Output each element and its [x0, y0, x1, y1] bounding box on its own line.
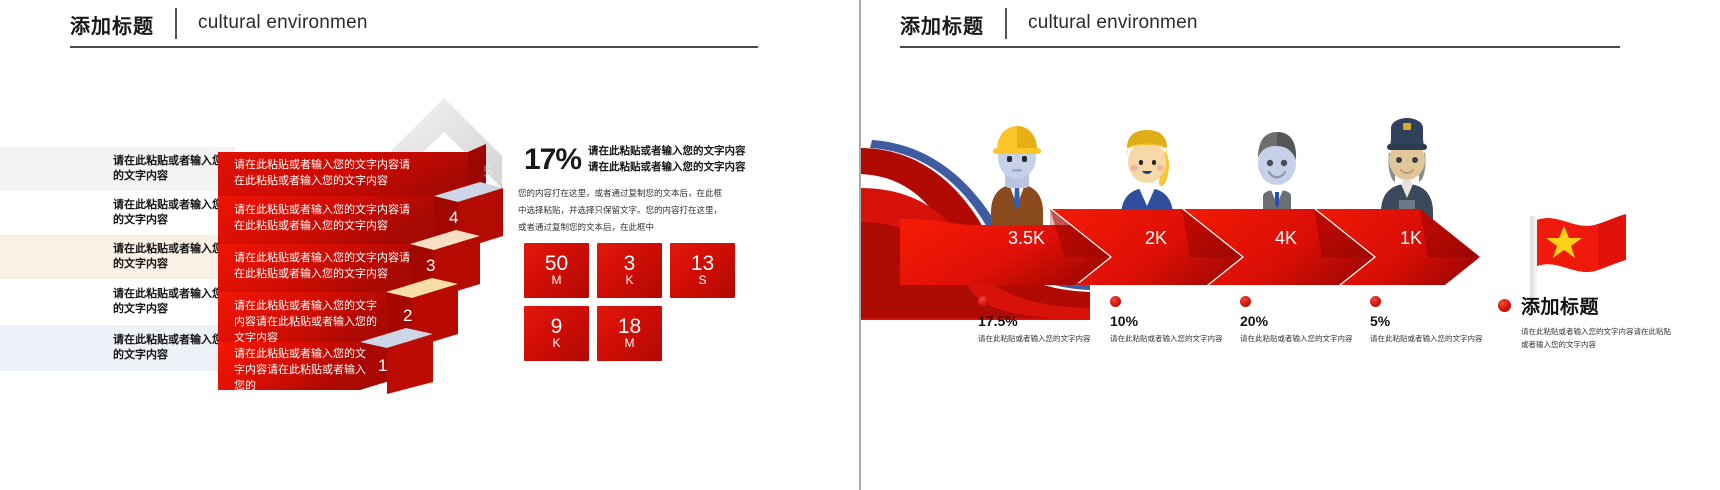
kpi-value: 18: [618, 317, 641, 337]
end-goal-block[interactable]: 添加标题 请在此粘贴或者输入您的文字内容请在此粘贴或者输入您的文字内容: [1498, 292, 1678, 352]
list-item-label: 请在此粘贴或者输入您的文字内容: [113, 154, 223, 184]
stat-body-text: 您的内容打在这里，或者通过复制您的文本后，在此框中选择粘贴，并选择只保留文字。您…: [518, 186, 728, 237]
metric-percent: 20%: [1240, 313, 1360, 329]
metric-item[interactable]: 20% 请在此粘贴或者输入您的文字内容: [1240, 296, 1360, 345]
staircase-diagram: 请在此粘贴或者输入您的文字内容请在此粘贴或者输入您的文字内容 5 请在此粘: [218, 96, 518, 376]
list-item-label: 请在此粘贴或者输入您的文字内容: [113, 198, 223, 228]
page-title-en: cultural environmen: [198, 12, 368, 34]
kpi-value: 9: [551, 317, 563, 337]
stat-description: 请在此粘贴或者输入您的文字内容 请在此粘贴或者输入您的文字内容: [588, 144, 768, 176]
metric-percent: 10%: [1110, 313, 1230, 329]
kpi-unit: S: [698, 274, 706, 287]
page-title-cn: 添加标题: [70, 10, 154, 39]
metric-text: 请在此粘贴或者输入您的文字内容: [1110, 333, 1230, 345]
ladder-label-list: 请在此粘贴或者输入您的文字内容 请在此粘贴或者输入您的文字内容 请在此粘贴或者输…: [0, 147, 235, 367]
header-rule: [70, 46, 758, 48]
kpi-tile[interactable]: 9 K: [524, 306, 589, 361]
kpi-unit: K: [552, 337, 560, 350]
list-item-label: 请在此粘贴或者输入您的文字内容: [113, 287, 223, 317]
metrics-row: 17.5% 请在此粘贴或者输入您的文字内容 10% 请在此粘贴或者输入您的文字内…: [860, 296, 1500, 376]
slide-left: 添加标题 cultural environmen 请在此粘贴或者输入您的文字内容…: [0, 0, 860, 490]
list-item[interactable]: 请在此粘贴或者输入您的文字内容: [0, 279, 235, 325]
bullet-dot-icon: [1498, 299, 1511, 312]
list-item[interactable]: 请在此粘贴或者输入您的文字内容: [0, 147, 235, 191]
process-diagram: 3.5K 2K 4K 1K 17.5% 请在此粘贴或者输入您的文字内容 10% …: [860, 0, 1720, 490]
kpi-unit: M: [625, 337, 635, 350]
arrow-value-4: 1K: [1400, 228, 1422, 249]
kpi-value: 50: [545, 254, 568, 274]
step-5-number: 5: [483, 162, 492, 182]
bullet-dot-icon: [1370, 296, 1381, 307]
chevron-arrow-band: [860, 195, 1480, 285]
kpi-tile[interactable]: 18 M: [597, 306, 662, 361]
slide-divider: [859, 0, 861, 490]
stat-value: 17%: [524, 143, 581, 177]
list-item[interactable]: 请在此粘贴或者输入您的文字内容: [0, 325, 235, 371]
step-1[interactable]: 请在此粘贴或者输入您的文字内容请在此粘贴或者输入您的 1: [218, 342, 373, 390]
list-item-label: 请在此粘贴或者输入您的文字内容: [113, 242, 223, 272]
kpi-unit: M: [552, 274, 562, 287]
kpi-tile[interactable]: 13 S: [670, 243, 735, 298]
end-goal-text: 请在此粘贴或者输入您的文字内容请在此粘贴或者输入您的文字内容: [1521, 326, 1671, 352]
arrow-value-2: 2K: [1145, 228, 1167, 249]
metric-item[interactable]: 17.5% 请在此粘贴或者输入您的文字内容: [978, 296, 1098, 345]
step-3-number: 3: [426, 256, 435, 276]
kpi-grid: 50 M 3 K 13 S 9 K 18 M: [524, 243, 736, 361]
step-1-number: 1: [378, 356, 387, 376]
bullet-dot-icon: [1110, 296, 1121, 307]
slide-right: 添加标题 cultural environmen: [860, 0, 1720, 490]
metric-percent: 5%: [1370, 313, 1490, 329]
list-item[interactable]: 请在此粘贴或者输入您的文字内容: [0, 235, 235, 279]
bullet-dot-icon: [978, 296, 989, 307]
list-item[interactable]: 请在此粘贴或者输入您的文字内容: [0, 191, 235, 235]
metric-item[interactable]: 5% 请在此粘贴或者输入您的文字内容: [1370, 296, 1490, 345]
header-separator: [175, 8, 177, 39]
step-4-number: 4: [449, 208, 458, 228]
kpi-tile[interactable]: 50 M: [524, 243, 589, 298]
metric-item[interactable]: 10% 请在此粘贴或者输入您的文字内容: [1110, 296, 1230, 345]
arrow-value-3: 4K: [1275, 228, 1297, 249]
list-item-label: 请在此粘贴或者输入您的文字内容: [113, 333, 223, 363]
step-1-text: 请在此粘贴或者输入您的文字内容请在此粘贴或者输入您的: [234, 346, 369, 394]
end-goal-title: 添加标题: [1521, 292, 1599, 319]
metric-percent: 17.5%: [978, 313, 1098, 329]
slide-deck: 添加标题 cultural environmen 请在此粘贴或者输入您的文字内容…: [0, 0, 1720, 490]
slide-left-header: 添加标题 cultural environmen: [70, 8, 760, 50]
metric-text: 请在此粘贴或者输入您的文字内容: [978, 333, 1098, 345]
kpi-tile[interactable]: 3 K: [597, 243, 662, 298]
bullet-dot-icon: [1240, 296, 1251, 307]
kpi-value: 13: [691, 254, 714, 274]
metric-text: 请在此粘贴或者输入您的文字内容: [1240, 333, 1360, 345]
kpi-value: 3: [624, 254, 636, 274]
arrow-value-1: 3.5K: [1008, 228, 1045, 249]
kpi-unit: K: [625, 274, 633, 287]
metric-text: 请在此粘贴或者输入您的文字内容: [1370, 333, 1490, 345]
step-2-number: 2: [403, 306, 412, 326]
